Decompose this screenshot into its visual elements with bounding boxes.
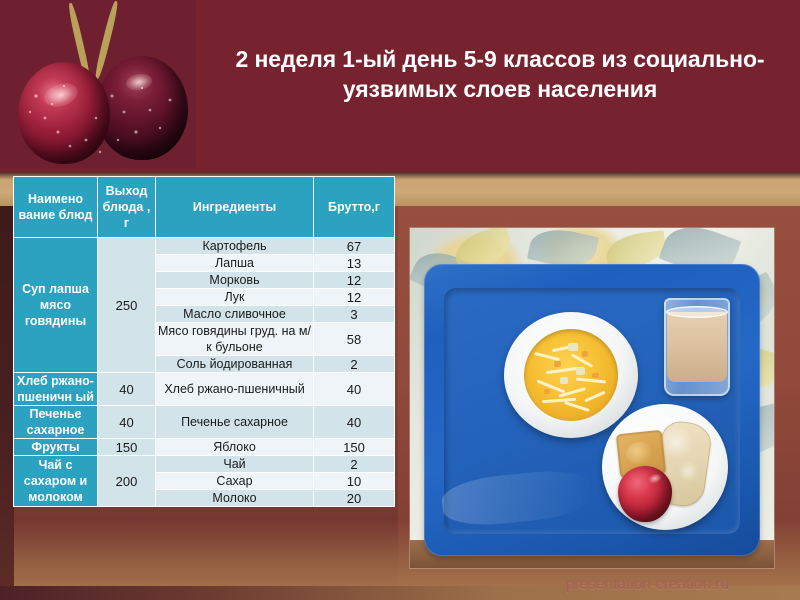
cell-ingredient: Картофель [156, 238, 314, 255]
cherries-image [0, 0, 196, 168]
blue-tray [424, 264, 760, 556]
cell-dish-name: Суп лапша мясо говядины [14, 238, 98, 373]
cell-dish-name: Печенье сахарное [14, 406, 98, 439]
cell-portion: 200 [98, 456, 156, 507]
cell-gross: 12 [314, 289, 395, 306]
column-header-dish-name: Наимено вание блюд [14, 177, 98, 238]
menu-table: Наимено вание блюд Выход блюда , г Ингре… [13, 176, 395, 507]
cell-ingredient: Печенье сахарное [156, 406, 314, 439]
table-header-row: Наимено вание блюд Выход блюда , г Ингре… [14, 177, 395, 238]
cell-dish-name: Чай с сахаром и молоком [14, 456, 98, 507]
table-row: Фрукты150Яблоко150 [14, 439, 395, 456]
cell-gross: 10 [314, 473, 395, 490]
cell-portion: 40 [98, 373, 156, 406]
column-header-portion: Выход блюда , г [98, 177, 156, 238]
cell-ingredient: Хлеб ржано-пшеничный [156, 373, 314, 406]
cell-dish-name: Фрукты [14, 439, 98, 456]
table-row: Хлеб ржано-пшеничн ый40Хлеб ржано-пшенич… [14, 373, 395, 406]
red-apple [618, 466, 672, 522]
table-row: Суп лапша мясо говядины250Картофель67 [14, 238, 395, 255]
side-plate [602, 404, 728, 530]
background-left-edge [0, 206, 14, 600]
cell-ingredient: Масло сливочное [156, 306, 314, 323]
tea-liquid [667, 312, 727, 382]
cell-ingredient: Мясо говядины груд. на м/к бульоне [156, 323, 314, 356]
glass-rim [666, 306, 728, 318]
cell-ingredient: Морковь [156, 272, 314, 289]
cell-gross: 58 [314, 323, 395, 356]
table-row: Печенье сахарное40Печенье сахарное40 [14, 406, 395, 439]
cherry-right-icon [96, 56, 188, 160]
cell-gross: 13 [314, 255, 395, 272]
cell-ingredient: Яблоко [156, 439, 314, 456]
cell-dish-name: Хлеб ржано-пшеничн ый [14, 373, 98, 406]
cell-ingredient: Лук [156, 289, 314, 306]
cell-portion: 150 [98, 439, 156, 456]
cell-ingredient: Лапша [156, 255, 314, 272]
cell-ingredient: Сахар [156, 473, 314, 490]
menu-table-container: Наимено вание блюд Выход блюда , г Ингре… [13, 176, 394, 507]
presentation-slide: 2 неделя 1-ый день 5-9 классов из социал… [0, 0, 800, 600]
cell-gross: 2 [314, 456, 395, 473]
cell-gross: 40 [314, 373, 395, 406]
cherry-left-icon [18, 62, 110, 164]
tea-with-milk-glass [664, 298, 730, 396]
column-header-ingredients: Ингредиенты [156, 177, 314, 238]
cell-gross: 150 [314, 439, 395, 456]
watermark-label: presentation-creation.ru [566, 576, 729, 593]
cell-ingredient: Молоко [156, 490, 314, 507]
table-row: Чай с сахаром и молоком200Чай2 [14, 456, 395, 473]
menu-table-body: Суп лапша мясо говядины250Картофель67Лап… [14, 238, 395, 507]
cell-gross: 2 [314, 356, 395, 373]
cell-ingredient: Чай [156, 456, 314, 473]
noodle-soup [524, 329, 618, 421]
cell-gross: 3 [314, 306, 395, 323]
cell-gross: 67 [314, 238, 395, 255]
cell-gross: 12 [314, 272, 395, 289]
cell-gross: 20 [314, 490, 395, 507]
slide-title: 2 неделя 1-ый день 5-9 классов из социал… [208, 44, 792, 104]
cell-ingredient: Соль йодированная [156, 356, 314, 373]
soup-bowl [504, 312, 638, 438]
lunch-tray-photo [410, 228, 774, 568]
cell-portion: 250 [98, 238, 156, 373]
cell-gross: 40 [314, 406, 395, 439]
cell-portion: 40 [98, 406, 156, 439]
column-header-gross: Брутто,г [314, 177, 395, 238]
